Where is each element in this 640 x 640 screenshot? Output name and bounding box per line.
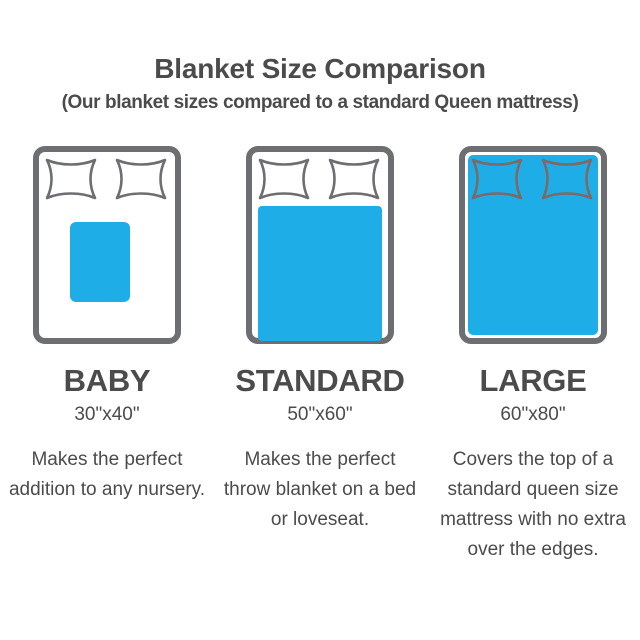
bed-top-view-icon: [459, 146, 607, 344]
pillow-left-icon: [47, 160, 95, 198]
bed-diagram-large: [459, 146, 607, 346]
size-name-baby: BABY: [64, 363, 151, 399]
size-name-large: LARGE: [479, 363, 586, 399]
header: Blanket Size Comparison (Our blanket siz…: [0, 52, 640, 116]
comparison-column-large: LARGE 60"x80" Covers the top of a standa…: [427, 146, 640, 565]
blanket-size-comparison-infographic: Blanket Size Comparison (Our blanket siz…: [0, 0, 640, 640]
blanket-overlay: [258, 206, 382, 341]
size-description-baby: Makes the perfect addition to any nurser…: [7, 445, 207, 505]
bed-diagram-baby: [33, 146, 181, 346]
comparison-column-baby: BABY 30"x40" Makes the perfect addition …: [1, 146, 214, 505]
bed-top-view-icon: [33, 146, 181, 344]
bed-diagram-standard: [246, 146, 394, 346]
pillow-right-icon: [330, 160, 378, 198]
bed-top-view-icon: [246, 146, 394, 344]
page-title: Blanket Size Comparison: [0, 52, 640, 86]
size-name-standard: STANDARD: [235, 363, 404, 399]
size-description-large: Covers the top of a standard queen size …: [433, 445, 633, 565]
size-description-standard: Makes the perfect throw blanket on a bed…: [220, 445, 420, 535]
comparison-column-standard: STANDARD 50"x60" Makes the perfect throw…: [214, 146, 427, 535]
blanket-overlay: [70, 222, 130, 302]
size-dimensions-large: 60"x80": [500, 403, 565, 427]
size-dimensions-baby: 30"x40": [74, 403, 139, 427]
comparison-columns: BABY 30"x40" Makes the perfect addition …: [0, 146, 640, 565]
pillow-right-icon: [117, 160, 165, 198]
pillow-left-icon: [260, 160, 308, 198]
blanket-overlay: [468, 155, 598, 335]
page-subtitle: (Our blanket sizes compared to a standar…: [0, 90, 640, 116]
size-dimensions-standard: 50"x60": [287, 403, 352, 427]
